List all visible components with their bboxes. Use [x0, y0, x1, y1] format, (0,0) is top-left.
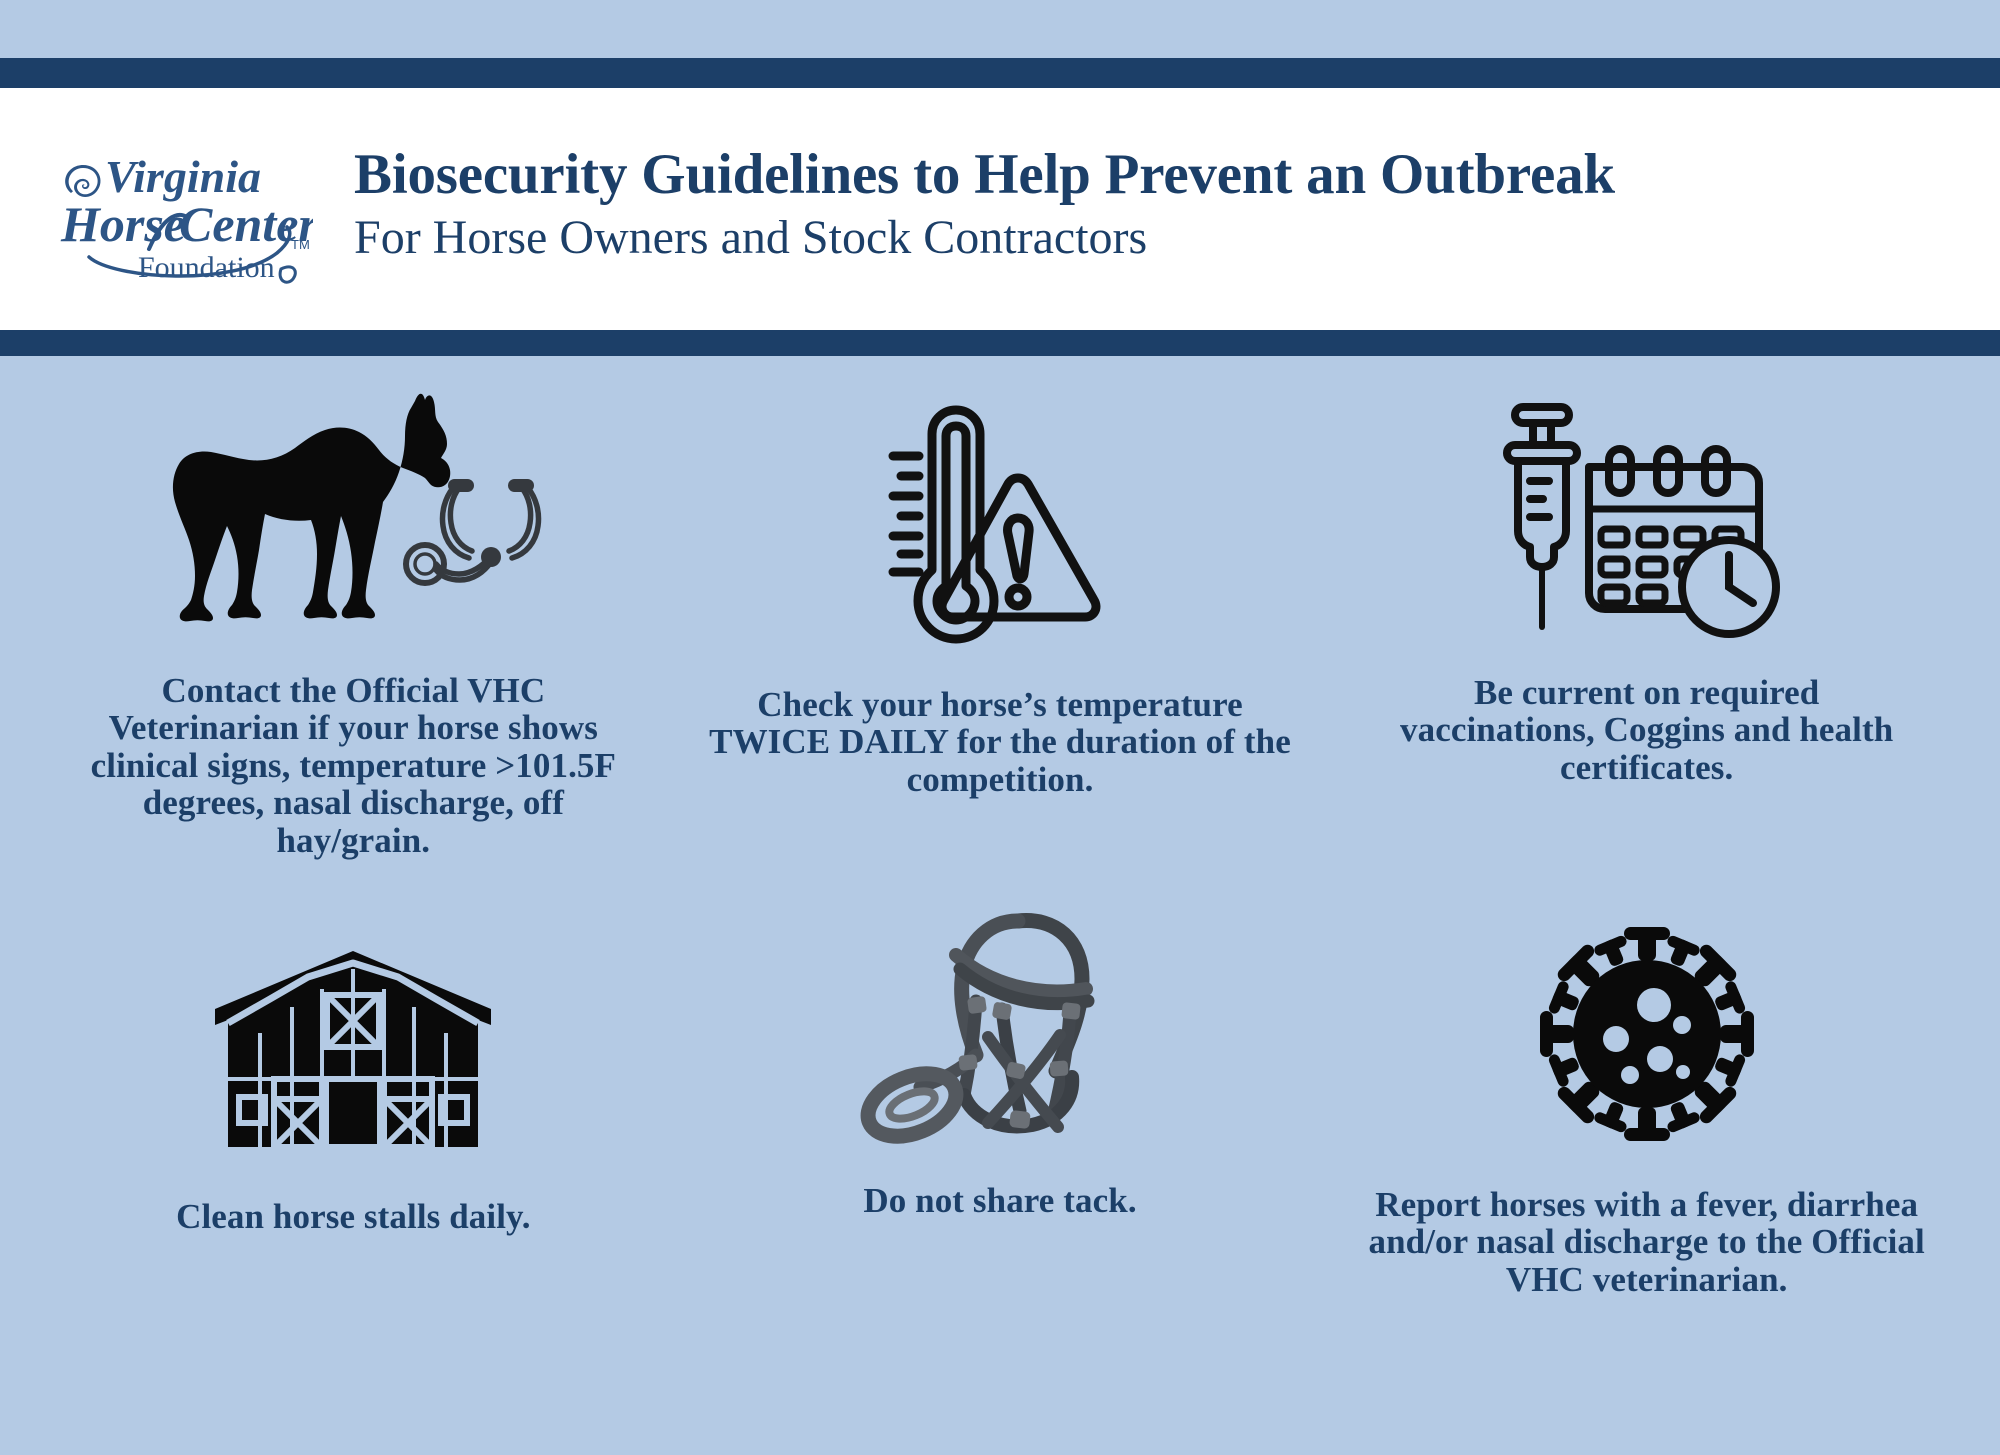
guideline-card-clean-stalls: Clean horse stalls daily. — [30, 856, 677, 1396]
guidelines-row-top: Contact the Official VHC Veterinarian if… — [30, 356, 1970, 856]
header-text-block: Biosecurity Guidelines to Help Prevent a… — [318, 145, 1615, 273]
svg-text:Virginia: Virginia — [105, 151, 261, 202]
svg-text:Horse: Horse — [60, 196, 186, 252]
guideline-caption: Contact the Official VHC Veterinarian if… — [73, 672, 633, 859]
guideline-card-contact-vet: Contact the Official VHC Veterinarian if… — [30, 356, 677, 856]
guideline-card-check-temperature: Check your horse’s temperature TWICE DAI… — [677, 356, 1324, 856]
guideline-card-vaccinations: Be current on required vaccinations, Cog… — [1323, 356, 1970, 856]
barn-icon — [208, 922, 498, 1152]
guideline-caption: Be current on required vaccinations, Cog… — [1387, 674, 1907, 786]
horse-stethoscope-icon — [153, 384, 553, 634]
guideline-card-do-not-share-tack: Do not share tack. — [677, 856, 1324, 1396]
guideline-caption: Clean horse stalls daily. — [73, 1198, 633, 1235]
top-spacer — [0, 0, 2000, 58]
syringe-calendar-clock-icon — [1497, 384, 1797, 644]
guideline-card-report-fever: Report horses with a fever, diarrhea and… — [1323, 856, 1970, 1396]
virus-icon — [1532, 912, 1762, 1142]
thermometer-warning-icon — [875, 384, 1125, 644]
infographic-poster: Virginia Horse Center Foundation TM Bios… — [0, 0, 2000, 1455]
svg-text:Foundation: Foundation — [138, 251, 275, 284]
trademark-mark: TM — [291, 237, 310, 252]
header-bottom-rule — [0, 330, 2000, 356]
header-top-rule — [0, 58, 2000, 88]
guidelines-row-bottom: Clean horse stalls daily. — [30, 856, 1970, 1396]
guideline-caption: Check your horse’s temperature TWICE DAI… — [700, 686, 1300, 798]
virginia-horse-center-foundation-logo: Virginia Horse Center Foundation TM — [48, 131, 318, 287]
page-subtitle: For Horse Owners and Stock Contractors — [354, 211, 1615, 265]
page-title: Biosecurity Guidelines to Help Prevent a… — [354, 145, 1615, 205]
guideline-caption: Do not share tack. — [740, 1182, 1260, 1219]
guideline-caption: Report horses with a fever, diarrhea and… — [1347, 1186, 1947, 1298]
bridle-tack-icon — [860, 900, 1140, 1150]
guidelines-grid: Contact the Official VHC Veterinarian if… — [0, 356, 2000, 1396]
header-bar: Virginia Horse Center Foundation TM Bios… — [0, 88, 2000, 330]
